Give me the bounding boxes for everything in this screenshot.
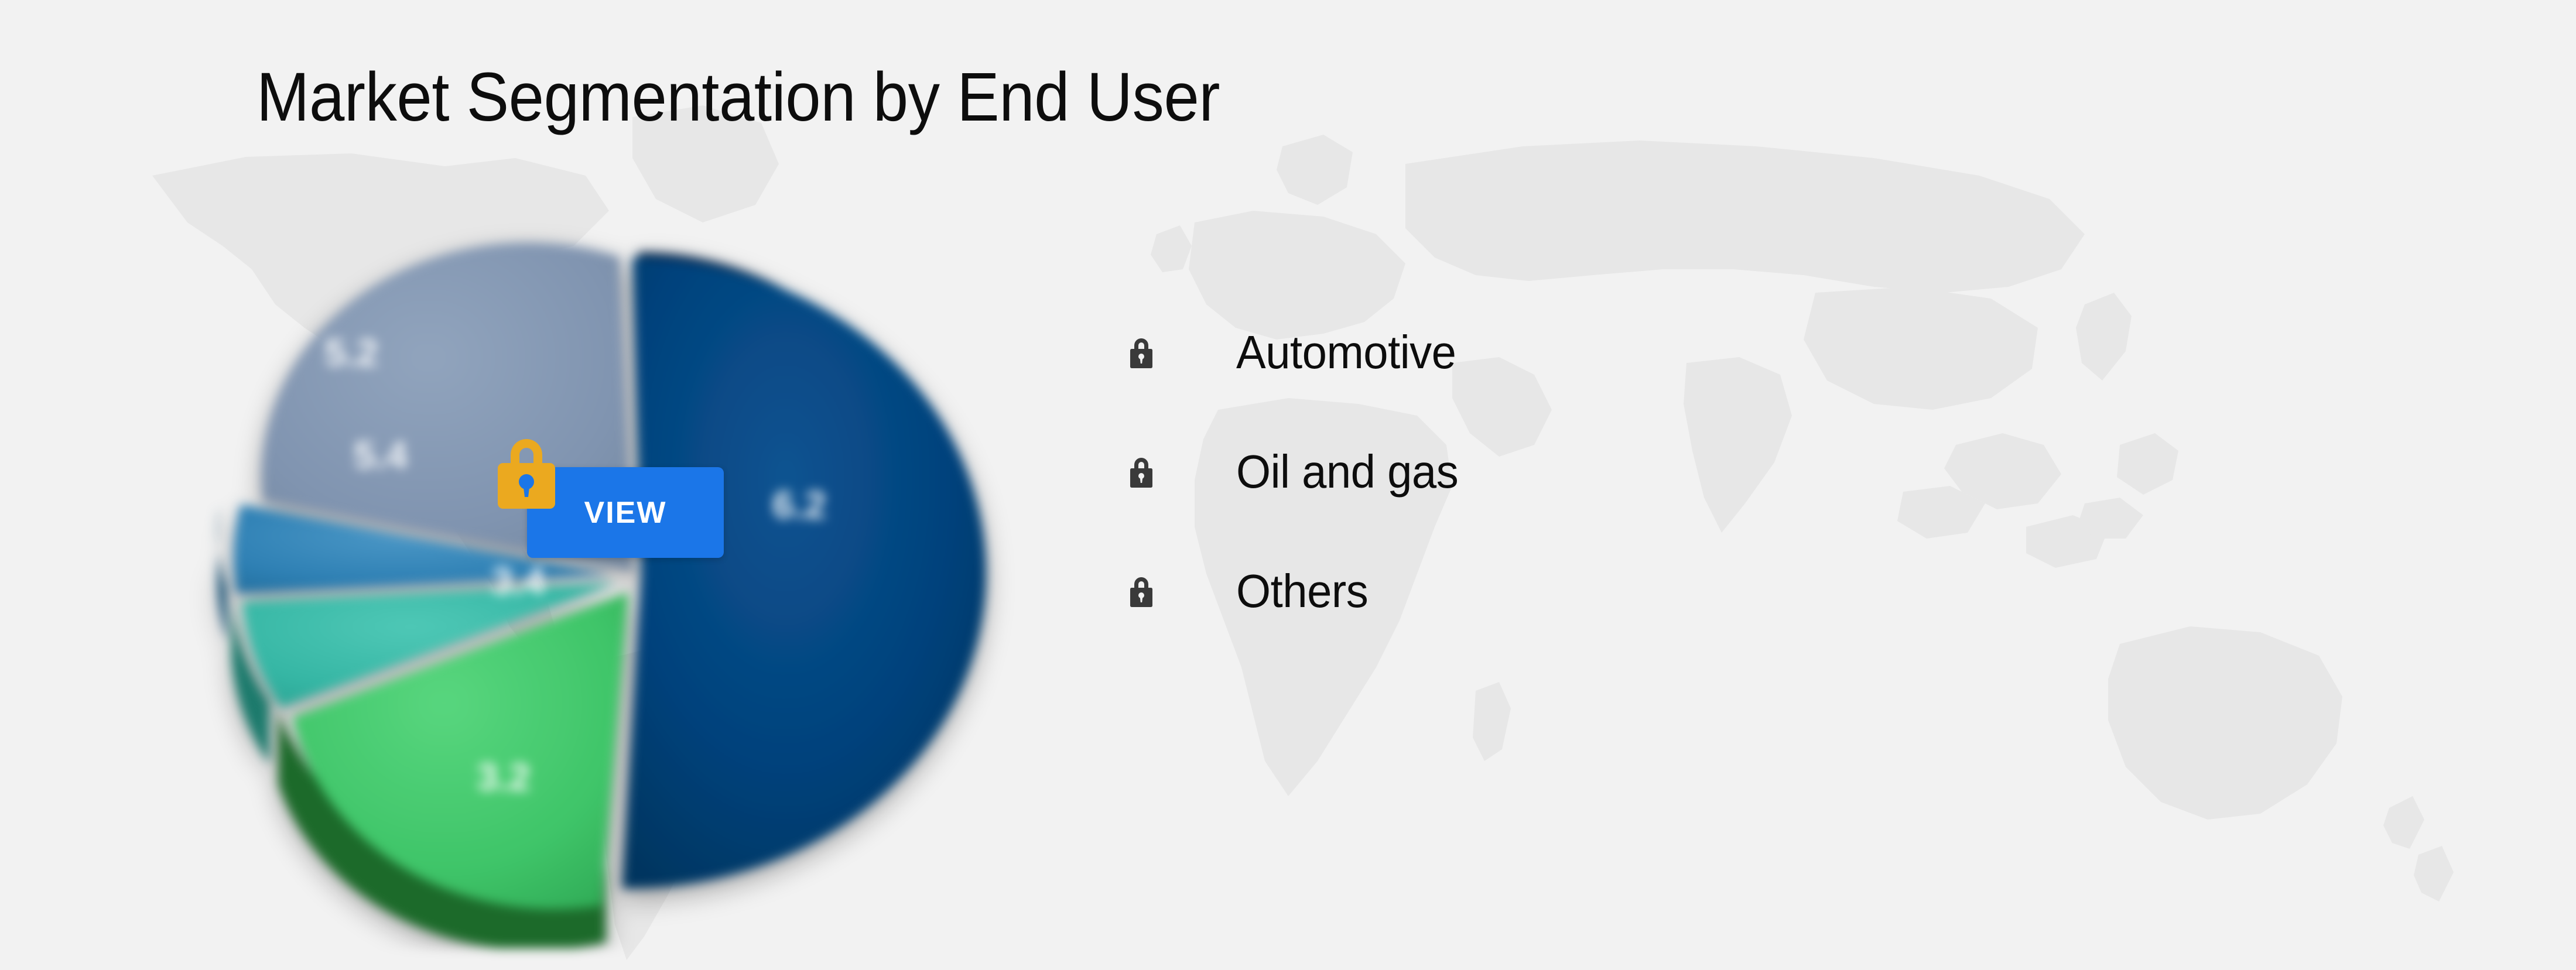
legend-item-others[interactable]: Others [1127, 532, 1771, 651]
view-button[interactable]: VIEW [527, 467, 724, 558]
svg-text:3.2: 3.2 [477, 755, 531, 798]
legend-item-label: Others [1236, 564, 1368, 618]
svg-text:5.2: 5.2 [324, 331, 378, 374]
legend: Automotive Oil and gas [1127, 293, 1771, 651]
legend-item-label: Oil and gas [1236, 445, 1458, 499]
legend-item-automotive[interactable]: Automotive [1127, 293, 1771, 412]
legend-item-oil-and-gas[interactable]: Oil and gas [1127, 412, 1771, 532]
slide-canvas: Market Segmentation by End User [0, 0, 2576, 970]
svg-text:6.2: 6.2 [772, 483, 826, 526]
lock-icon [1127, 336, 1155, 369]
svg-text:5.4: 5.4 [354, 433, 408, 477]
svg-text:3.4: 3.4 [491, 559, 545, 602]
legend-item-label: Automotive [1236, 325, 1456, 379]
page-title: Market Segmentation by End User [256, 61, 1220, 134]
pie-chart-blurred-graphic: 6.2 3.4 5.2 5.4 3.2 [176, 176, 1054, 948]
pie-chart: 6.2 3.4 5.2 5.4 3.2 [176, 176, 1054, 948]
lock-icon [1127, 575, 1155, 608]
lock-icon [1127, 455, 1155, 488]
